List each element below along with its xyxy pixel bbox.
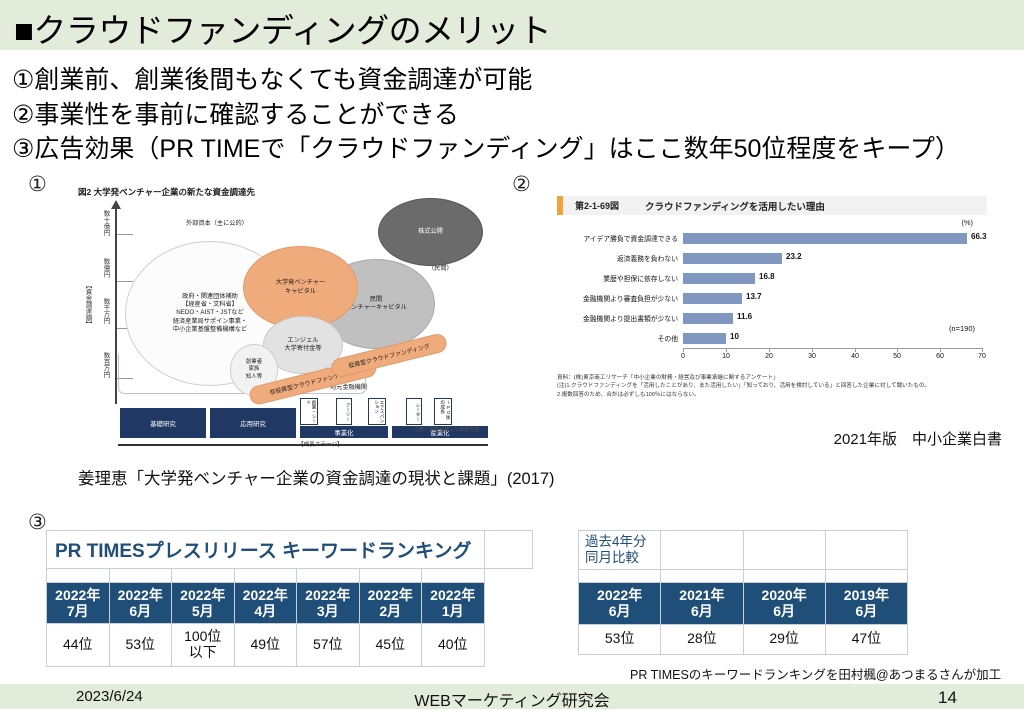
chart-bar-track: 11.6 [683,313,1005,324]
spacer-cell [825,570,907,583]
spacer-cell [484,624,533,666]
header-line-year: 2019年 [828,587,905,603]
table-left-header-cell: 2022年 5月 [172,583,235,624]
spacer-cell [579,570,661,583]
header-line-month: 3月 [299,603,357,619]
chart-header: 第2-1-69図 クラウドファンディングを活用したい理由 [557,196,987,215]
x-tick [982,348,983,352]
chart-category-label: 金融機関より審査負担が少ない [557,293,683,303]
ellipse-angel-label: エンジェル 大学寄付金等 [284,337,321,354]
stage-axis-title: 【成長ステージ】 [298,440,343,448]
table-left-title-spacer [484,531,533,569]
value-line: 100位 [174,629,232,645]
table-left-header-cell: 2022年 2月 [359,583,422,624]
stage-bar-applied-research: 応用研究 [210,408,296,438]
table-left-value-cell: 45位 [359,624,422,666]
chart-row: 金融機関より提出書類が少ない 11.6 [557,310,1005,326]
chart-category-label: 業歴や担保に依存しない [557,273,683,283]
spacer-cell [422,569,485,583]
spacer-cell [234,569,297,583]
ellipse-ipo-label: 株式公開 [418,228,443,236]
stage-column-seed: 創業・シード [300,398,318,425]
chart-footnote-1: (注)1.クラウドファンディングを「活用したことがあり、また活用したい」「知って… [557,382,1017,390]
x-tick [940,348,941,352]
spacer-cell [661,570,743,583]
value-line: 45位 [362,637,420,653]
y-label-3: 数千万円 [100,298,110,324]
table-right-value-cell: 29位 [743,624,825,654]
x-axis-label: 0 [681,353,685,360]
table-left-header-cell: 2022年 3月 [297,583,360,624]
chart-category-label: 返済義務を負わない [557,253,683,263]
ellipse-founder-label: 創業者 家族 知人等 [246,359,262,381]
footer-organization: WEBマーケティング研究会 [0,687,1024,711]
y-tick-2 [117,281,133,282]
table-left-header-cell: 2022年 7月 [47,583,110,624]
value-line: 53位 [112,637,170,653]
chart-row: 返済義務を負わない 23.2 [557,250,1005,266]
chart-bar [683,273,755,284]
table-left-header-cell: 2022年 1月 [422,583,485,624]
chart-bar-value: 66.3 [971,232,987,241]
value-line: 以下 [174,645,232,661]
table-left-value-cell: 49位 [234,624,297,666]
table-row: 44位 53位 100位 以下 49位 57位 45位 40位 [47,624,533,666]
chart-bar-value: 13.7 [746,292,762,301]
spacer-cell [109,569,172,583]
table-right-value-cell: 53位 [579,624,661,654]
table-right-value-cell: 47位 [825,624,907,654]
header-line-month: 4月 [237,603,295,619]
chart-bar [683,333,726,344]
stage-column-post-ipo: IPO後の成長 [434,398,452,425]
label-external-public: 外部資本（主に公的） [186,218,248,227]
chart-plot-area: アイデア勝負で資金調達できる 66.3 返済義務を負わない 23.2 業歴や担保… [557,230,1005,348]
figure-1-y-axis [115,208,117,404]
chart-footnote-source: 資料：(株)東京商工リサーチ「中小企業の財務・経営及び事業承継に関するアンケート… [557,374,1017,382]
white-paper-credit: 2021年版 中小企業白書 [834,428,1002,449]
chart-category-label: アイデア勝負で資金調達できる [557,233,683,243]
figure-1-source-note: （注釈）調査結果より筆者作成。 [409,426,484,433]
bullet-list: ①創業前、創業後間もなくても資金調達が可能 ②事業性を事前に確認することができる… [12,63,1012,167]
x-axis-label: 70 [978,353,986,360]
page-title: ■クラウドファンディングのメリット [14,4,551,52]
table-left-value-cell: 40位 [422,624,485,666]
header-line-year: 2022年 [299,587,357,603]
chart-row: その他 10 [557,330,1005,346]
x-axis-label: 30 [808,353,816,360]
chart-category-label: その他 [557,333,683,343]
figure-2-bar-chart: 第2-1-69図 クラウドファンディングを活用したい理由 (%) アイデア勝負で… [557,196,1005,371]
table-header-row: 2022年 6月 2021年 6月 2020年 6月 2019年 6月 [579,583,908,624]
x-tick [855,348,856,352]
footer-page-number: 14 [938,688,957,708]
y-label-2: 数億円 [100,258,110,278]
header-line-year: 2022年 [174,587,232,603]
figure-1-funding-diagram: 図2 大学発ベンチャー企業の新たな資金調達先 数十億円 数億円 数千万円 数百万… [30,186,490,446]
table-row [47,569,533,583]
x-axis-label: 10 [722,353,730,360]
header-line-month: 6月 [581,603,658,619]
chart-row: 金融機関より審査負担が少ない 13.7 [557,290,1005,306]
bullet-item-3: ③広告効果（PR TIMEで「クラウドファンディング」はここ数年50位程度をキー… [12,132,1012,167]
stage-column-early: アーリー [336,398,352,425]
table-right-title-line-2: 同月比較 [585,550,654,566]
chart-bar-track: 23.2 [683,253,1005,264]
figure-1-title: 図2 大学発ベンチャー企業の新たな資金調達先 [78,186,255,198]
x-axis-label: 50 [893,353,901,360]
chart-bar [683,253,782,264]
header-line-month: 1月 [424,603,482,619]
table-left-value-cell: 53位 [109,624,172,666]
chart-bar-track: 66.3 [683,233,1005,244]
chart-bar [683,313,733,324]
table-header-row: 2022年 7月 2022年 6月 2022年 5月 2022年 4月 2022… [47,583,533,624]
stage-column-expansion: エクスパンション [368,398,386,425]
chart-footnote-2: 2.複数回答のため、合計は必ずしも100％にはならない。 [557,391,1017,399]
value-line: 44位 [49,637,107,653]
header-line-month: 7月 [49,603,107,619]
spacer-cell [359,569,422,583]
spacer-cell [484,583,533,624]
stage-bar-commercialization: 事業化 [300,426,388,438]
table-row: 53位 28位 29位 47位 [579,624,908,654]
spacer-cell [297,569,360,583]
chart-sample-size: (n=190) [949,324,975,333]
x-tick [897,348,898,352]
chart-bar-track: 13.7 [683,293,1005,304]
table-left-header-cell: 2022年 6月 [109,583,172,624]
x-axis-label: 20 [765,353,773,360]
x-tick [769,348,770,352]
chart-bar-value: 23.2 [786,252,802,261]
value-line: 57位 [299,637,357,653]
table-right-title: 過去4年分 同月比較 [579,531,661,570]
header-line-year: 2022年 [581,587,658,603]
ellipse-university-vc-label: 大学発ベンチャー キャピタル [276,279,325,296]
spacer-cell [743,570,825,583]
header-line-year: 2020年 [746,587,823,603]
chart-row: 業歴や担保に依存しない 16.8 [557,270,1005,286]
chart-category-label: 金融機関より提出書類が少ない [557,313,683,323]
table-right-header-cell: 2021年 6月 [661,583,743,624]
chart-bar-value: 11.6 [737,312,752,321]
chart-bar-track: 16.8 [683,273,1005,284]
spacer-cell [47,569,110,583]
header-line-year: 2022年 [49,587,107,603]
chart-bar [683,293,742,304]
header-line-month: 2月 [362,603,420,619]
x-axis-label: 60 [936,353,944,360]
chart-figure-number: 第2-1-69図 [563,199,619,212]
table-right-value-cell: 28位 [661,624,743,654]
table-left-header-cell: 2022年 4月 [234,583,297,624]
section-marker-three: ③ [28,510,47,535]
table-left-title: PR TIMESプレスリリース キーワードランキング [47,531,485,569]
header-line-year: 2022年 [237,587,295,603]
bullet-item-1: ①創業前、創業後間もなくても資金調達が可能 [12,63,1012,98]
ellipse-ipo: 株式公開 [378,198,483,266]
table-keyword-ranking: PR TIMESプレスリリース キーワードランキング 2022年 7月 2022… [46,530,533,667]
table-row: 過去4年分 同月比較 [579,531,908,570]
header-line-month: 6月 [746,603,823,619]
figure-1-caption: 姜理恵「大学発ベンチャー企業の資金調達の現状と課題」(2017) [78,465,555,489]
header-line-year: 2022年 [424,587,482,603]
header-line-month: 6月 [112,603,170,619]
header-line-year: 2021年 [663,587,740,603]
table-right-header-cell: 2019年 6月 [825,583,907,624]
spacer-cell [661,531,743,570]
table-row [579,570,908,583]
chart-bar-value: 16.8 [759,272,775,281]
ellipse-government-support-label: 政府・関連団体補助 【経産省・文科省】 NEDO・AIST・JSTなど 経済産業… [173,293,247,335]
header-line-year: 2022年 [362,587,420,603]
table-right-header-cell: 2020年 6月 [743,583,825,624]
chart-title: クラウドファンディングを活用したい理由 [619,199,825,213]
spacer-cell [743,531,825,570]
chart-bar [683,233,967,244]
table-left-value-cell: 57位 [297,624,360,666]
bullet-item-2: ②事業性を事前に確認することができる [12,98,1012,133]
figure-1-y-axis-title: 【資金調達額】 [82,282,92,328]
table-year-comparison: 過去4年分 同月比較 2022年 6月 2021年 6月 2020年 6月 20… [578,530,908,655]
y-tick-1 [117,234,133,235]
chart-bar-value: 10 [730,332,739,341]
spacer-cell [825,531,907,570]
table-right-header-cell: 2022年 6月 [579,583,661,624]
credit-line-1: PR TIMESのキーワードランキングを田村楓@あつまるさんが加工 [630,667,1001,684]
header-line-month: 5月 [174,603,232,619]
chart-bar-track: 10 [683,333,1005,344]
x-tick [812,348,813,352]
stage-bar-basic-research: 基礎研究 [120,408,206,438]
table-left-value-cell: 100位 以下 [172,624,235,666]
y-label-4: 数百万円 [100,352,110,378]
chart-row: アイデア勝負で資金調達できる 66.3 [557,230,1005,246]
x-axis-label: 40 [851,353,859,360]
header-line-year: 2022年 [112,587,170,603]
table-right-title-line-1: 過去4年分 [585,534,654,550]
spacer-cell [172,569,235,583]
x-tick [683,348,684,352]
section-marker-two: ② [512,172,531,197]
table-row: PR TIMESプレスリリース キーワードランキング [47,531,533,569]
value-line: 40位 [424,637,482,653]
spacer-cell [484,569,533,583]
chart-unit-label: (%) [961,218,973,227]
chart-footnotes: 資料：(株)東京商工リサーチ「中小企業の財務・経営及び事業承継に関するアンケート… [557,374,1017,399]
header-line-month: 6月 [828,603,905,619]
table-left-value-cell: 44位 [47,624,110,666]
x-tick [726,348,727,352]
stage-column-later: レーター [406,398,422,425]
header-line-month: 6月 [663,603,740,619]
chart-x-axis [683,348,982,349]
value-line: 49位 [237,637,295,653]
y-label-1: 数十億円 [100,210,110,236]
